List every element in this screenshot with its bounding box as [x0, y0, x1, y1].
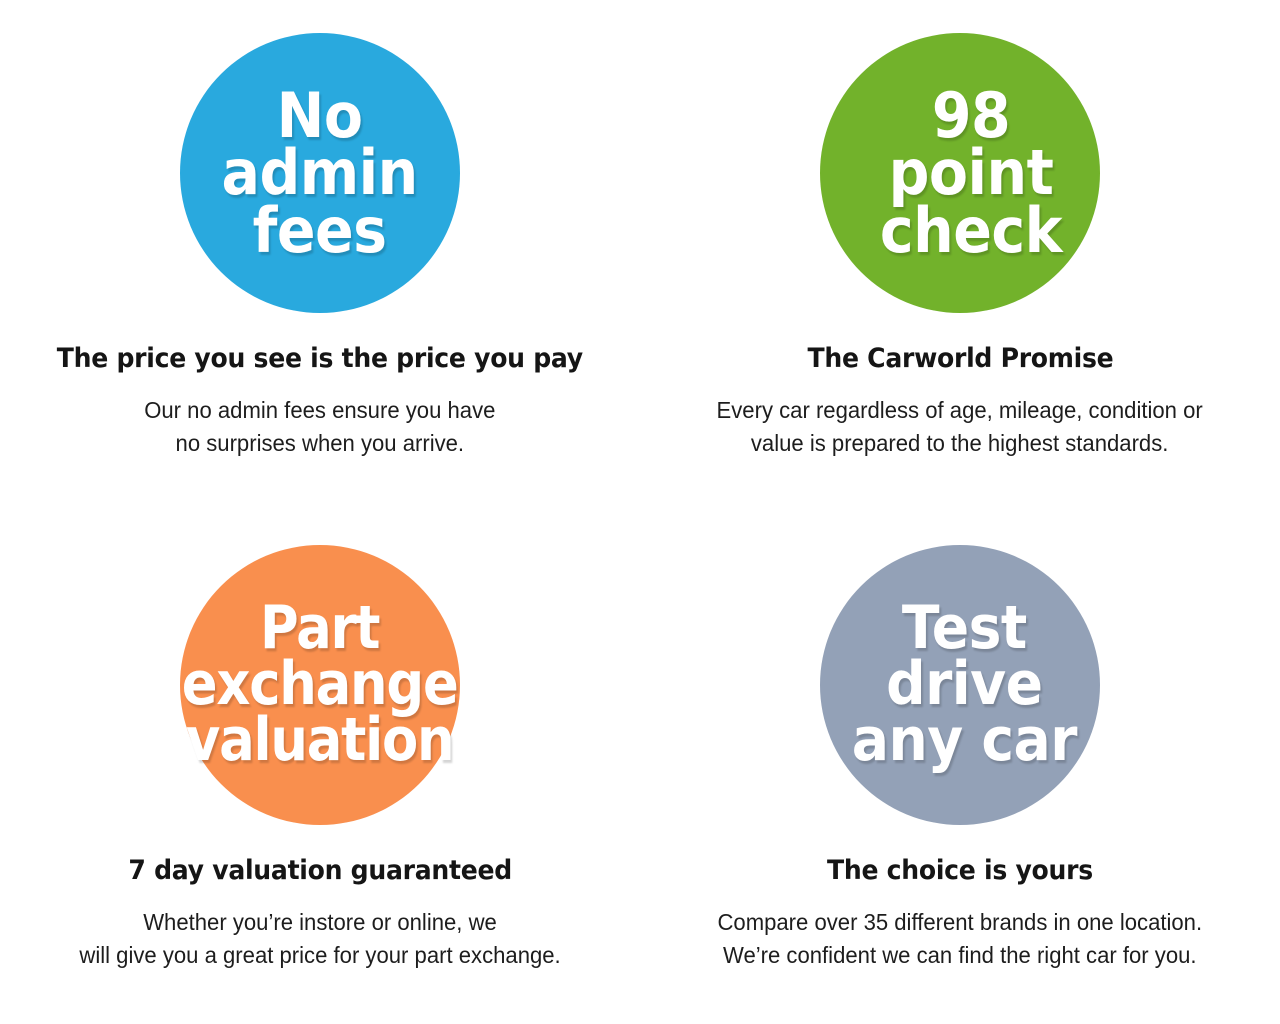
badge-label: 98 point check	[880, 87, 1062, 260]
usp-body-text: Our no admin fees ensure you have no sur…	[131, 394, 509, 461]
usp-card-part-exchange-valuation: Part exchange valuation 7 day valuation …	[0, 512, 640, 1024]
badge-part-exchange-valuation: Part exchange valuation	[180, 545, 460, 825]
badge-test-drive-any-car: Test drive any car	[820, 545, 1100, 825]
badge-label: No admin fees	[222, 87, 418, 260]
badge-label: Test drive any car	[851, 601, 1076, 768]
badge-label: Part exchange valuation	[182, 601, 458, 768]
usp-feature-grid: No admin fees The price you see is the p…	[0, 0, 1280, 1024]
usp-heading: 7 day valuation guaranteed	[117, 855, 523, 886]
usp-heading: The price you see is the price you pay	[46, 343, 594, 374]
usp-card-test-drive-any-car: Test drive any car The choice is yours C…	[640, 512, 1280, 1024]
badge-no-admin-fees: No admin fees	[180, 33, 460, 313]
usp-body-text: Every car regardless of age, mileage, co…	[704, 394, 1217, 461]
usp-body-text: Compare over 35 different brands in one …	[705, 906, 1216, 973]
usp-card-no-admin-fees: No admin fees The price you see is the p…	[0, 0, 640, 512]
usp-card-98-point-check: 98 point check The Carworld Promise Ever…	[640, 0, 1280, 512]
usp-heading: The Carworld Promise	[796, 343, 1124, 374]
usp-body-text: Whether you’re instore or online, we wil…	[66, 906, 574, 973]
badge-98-point-check: 98 point check	[820, 33, 1100, 313]
usp-heading: The choice is yours	[816, 855, 1104, 886]
